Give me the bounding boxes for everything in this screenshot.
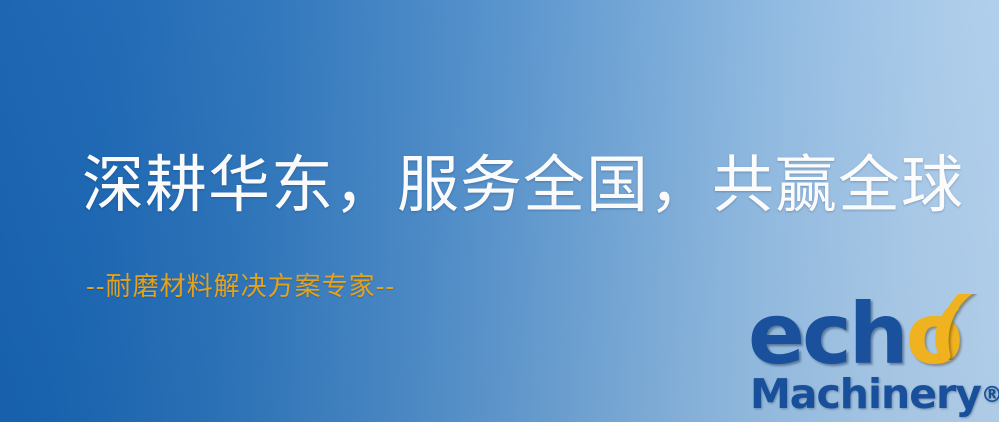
logo-wordmark: echo	[744, 296, 999, 374]
logo-tagline: Machinery®	[750, 372, 999, 418]
logo-tagline-text: Machinery	[750, 370, 981, 418]
logo-wordmark-text: echo	[748, 292, 960, 376]
company-logo[interactable]: echo Machinery®	[744, 296, 999, 422]
signal-arcs-icon	[930, 294, 999, 360]
registered-trademark-icon: ®	[981, 383, 999, 408]
page-title: 深耕华东，服务全国，共赢全球	[82, 152, 964, 217]
page-subtitle: --耐磨材料解决方案专家--	[86, 266, 395, 303]
logo-wordmark-prefix: ech	[748, 285, 906, 383]
hero-banner: 深耕华东，服务全国，共赢全球 --耐磨材料解决方案专家-- echo Machi…	[0, 0, 999, 422]
